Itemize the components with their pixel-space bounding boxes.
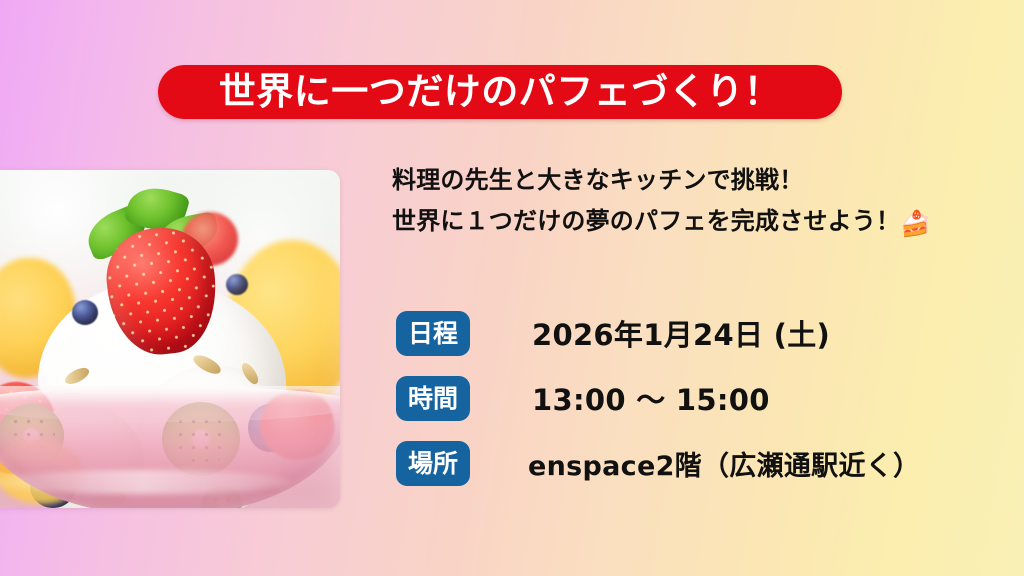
detail-row-date: 日程 2026年1月24日 (土) xyxy=(396,310,1008,356)
page-title: 世界に一つだけのパフェづくり！ xyxy=(219,73,782,110)
subtitle-line-1: 料理の先生と大きなキッチンで挑戦！ xyxy=(392,160,1012,201)
label-badge-date: 日程 xyxy=(396,311,470,356)
subtitle-line-2-wrapper: 世界に１つだけの夢のパフェを完成させよう！🍰 xyxy=(392,201,1012,242)
detail-row-place: 場所 enspace2階（広瀬通駅近く） xyxy=(396,440,1008,486)
event-details-list: 日程 2026年1月24日 (土) 時間 13:00 ～ 15:00 場所 en… xyxy=(396,310,1008,505)
glass-bowl-highlight xyxy=(0,470,292,494)
detail-row-time: 時間 13:00 ～ 15:00 xyxy=(396,375,1008,421)
label-badge-place: 場所 xyxy=(396,441,470,486)
parfait-photo xyxy=(0,170,340,508)
subtitle-block: 料理の先生と大きなキッチンで挑戦！ 世界に１つだけの夢のパフェを完成させよう！🍰 xyxy=(392,160,1012,242)
flyer-canvas: 世界に一つだけのパフェづくり！ xyxy=(0,0,1024,576)
title-banner: 世界に一つだけのパフェづくり！ xyxy=(158,65,842,119)
value-time: 13:00 ～ 15:00 xyxy=(532,377,770,419)
blueberry-icon-4 xyxy=(226,274,248,295)
cake-icon: 🍰 xyxy=(900,209,931,238)
value-date: 2026年1月24日 (土) xyxy=(532,312,830,354)
blueberry-icon-3 xyxy=(72,300,98,325)
subtitle-line-2: 世界に１つだけの夢のパフェを完成させよう！ xyxy=(392,207,900,235)
label-badge-time: 時間 xyxy=(396,376,470,421)
value-place: enspace2階（広瀬通駅近く） xyxy=(528,444,920,483)
